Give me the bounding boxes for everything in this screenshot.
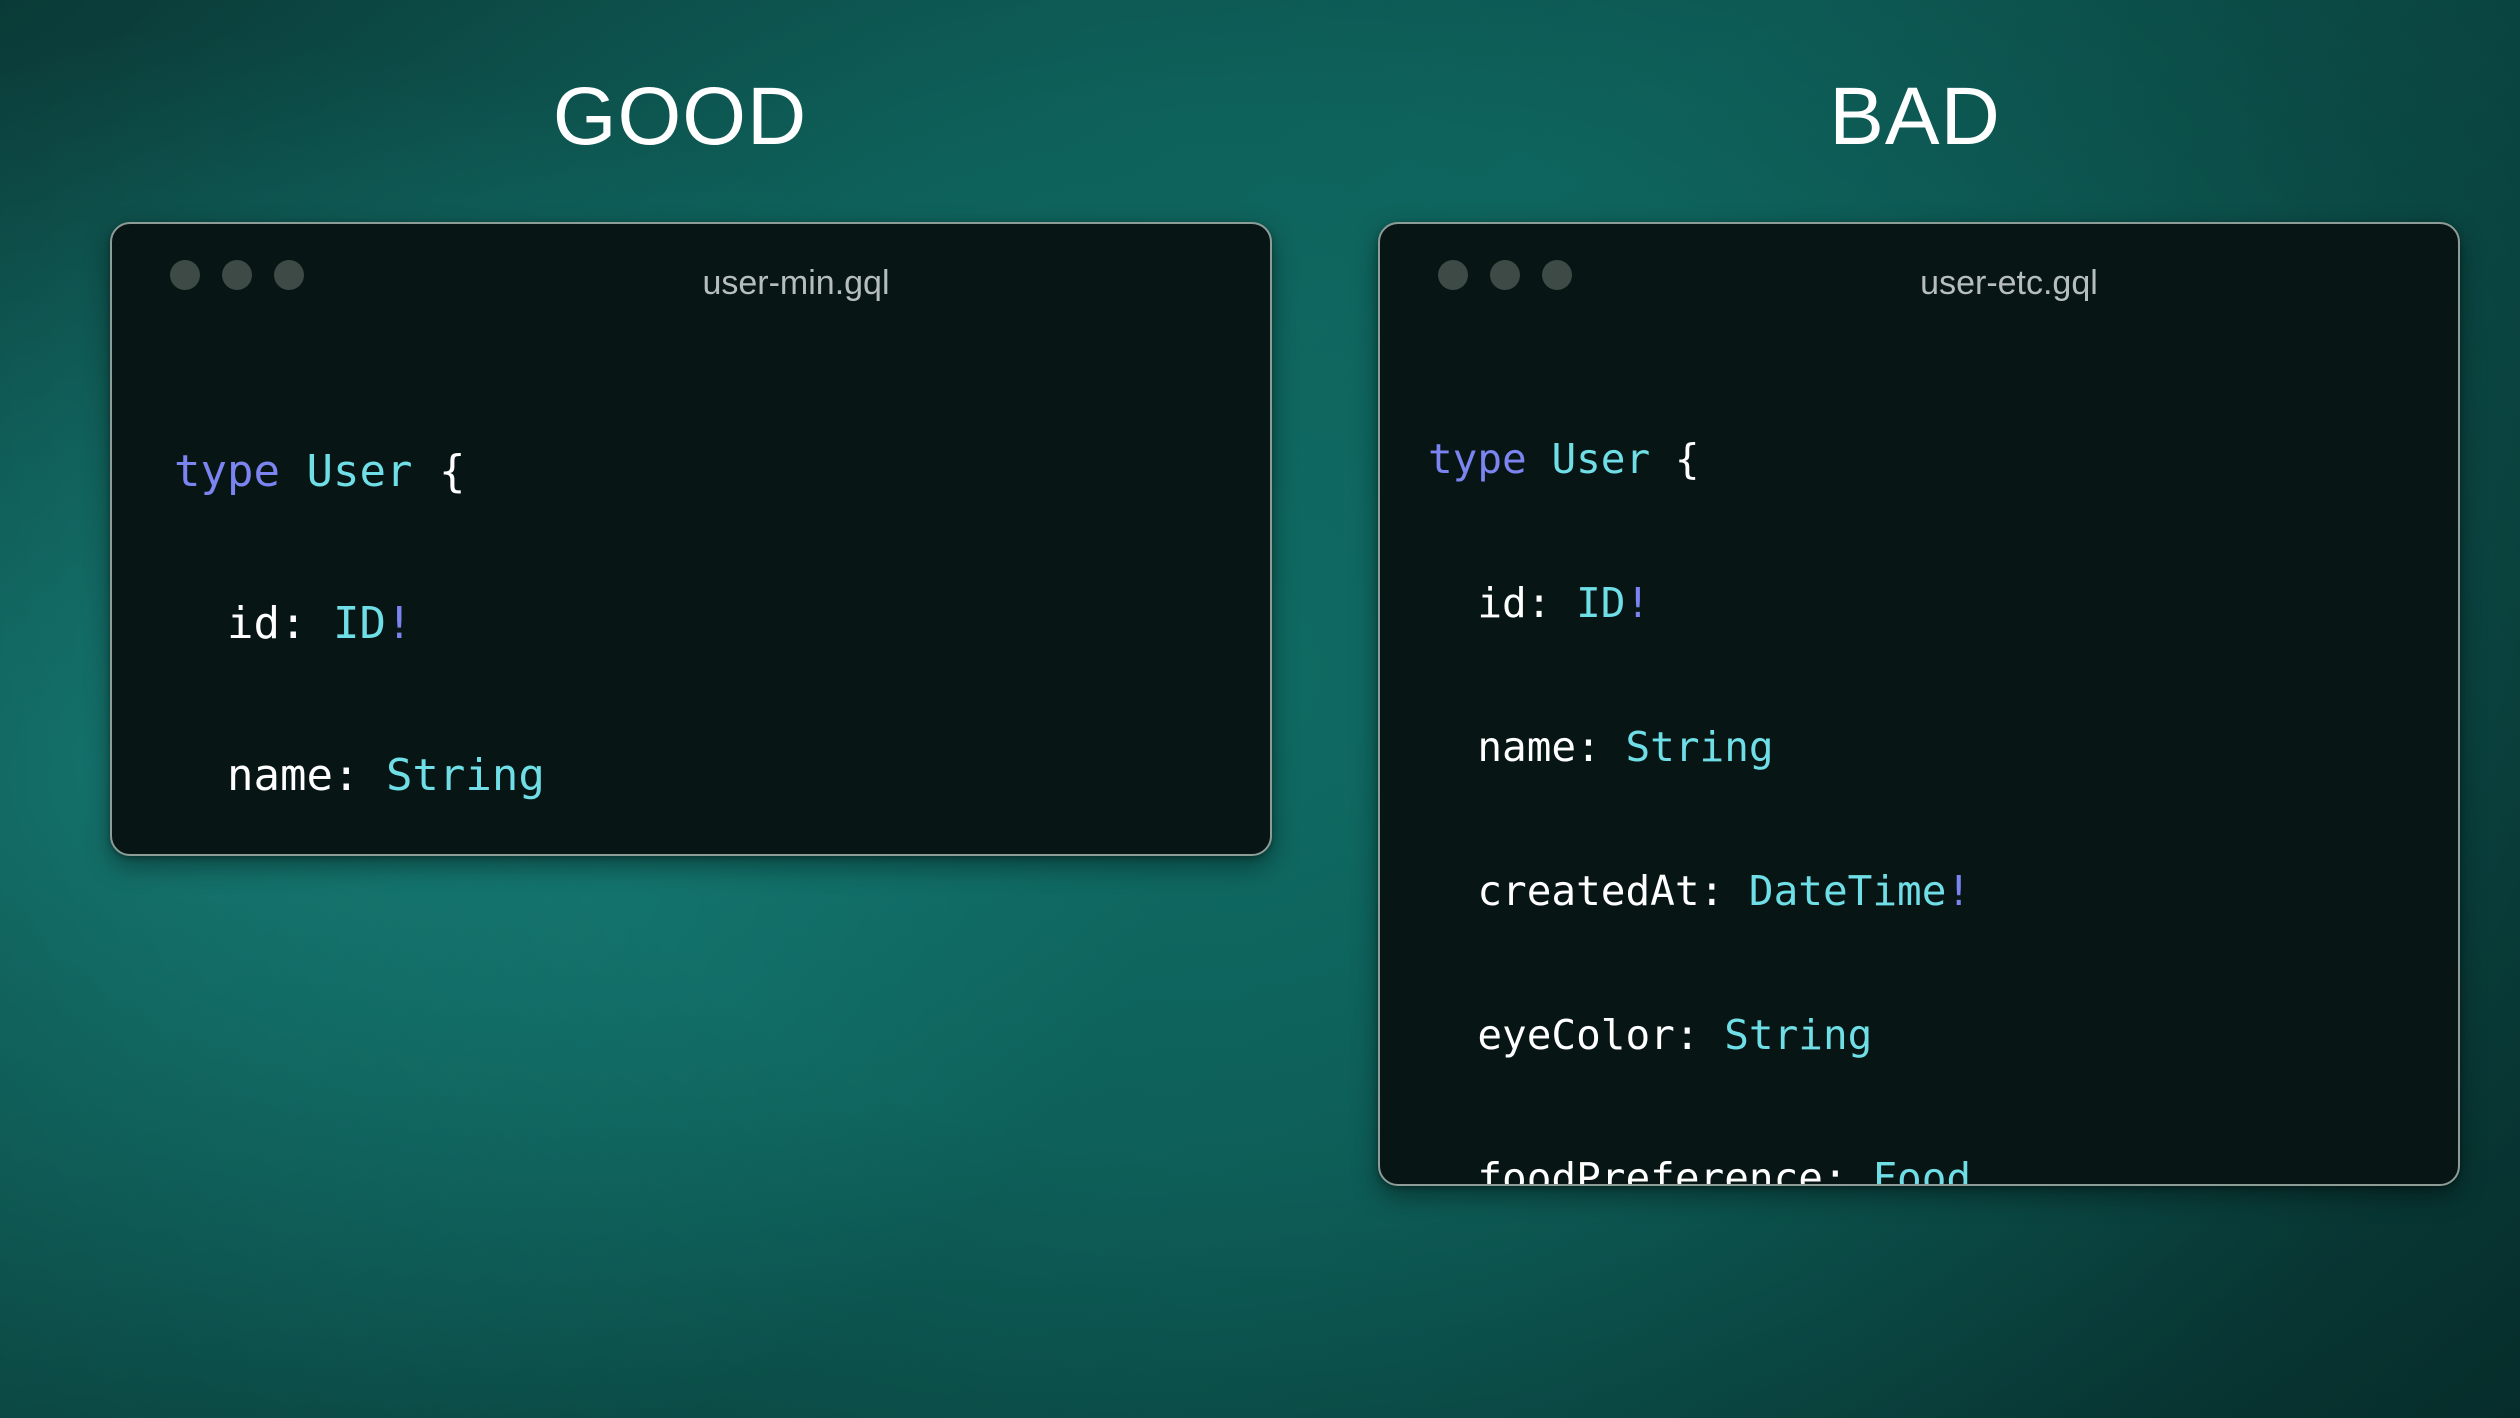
colon: : xyxy=(1700,867,1749,915)
code-line: foodPreference: Food xyxy=(1428,1155,2458,1186)
colon: : xyxy=(1576,723,1625,771)
indent xyxy=(1428,867,1477,915)
colon: : xyxy=(280,598,333,649)
brace-open: { xyxy=(1675,435,1700,483)
type-string: String xyxy=(386,750,545,801)
space xyxy=(1527,435,1552,483)
code-line: name: String xyxy=(174,751,1270,802)
colon: : xyxy=(1527,579,1576,627)
code-line: eyeColor: String xyxy=(1428,1012,2458,1060)
type-id: ID xyxy=(333,598,386,649)
code-line: id: ID! xyxy=(1428,580,2458,628)
code-line: createdAt: DateTime! xyxy=(1428,868,2458,916)
indent xyxy=(1428,723,1477,771)
indent xyxy=(1428,1011,1477,1059)
colon: : xyxy=(1823,1154,1872,1186)
non-null-bang: ! xyxy=(1946,867,1971,915)
keyword-type: type xyxy=(174,446,280,497)
field-id: id xyxy=(227,598,280,649)
colon: : xyxy=(1675,1011,1724,1059)
brace-open: { xyxy=(439,446,466,497)
code-line: id: ID! xyxy=(174,599,1270,650)
field-eyecolor: eyeColor xyxy=(1477,1011,1674,1059)
keyword-type: type xyxy=(1428,435,1527,483)
type-datetime: DateTime xyxy=(1749,867,1946,915)
bad-card-filename: user-etc.gql xyxy=(1380,264,2458,303)
field-name: name xyxy=(1477,723,1576,771)
code-line: name: String xyxy=(1428,724,2458,772)
bad-code-card: user-etc.gql type User { id: ID! name: S… xyxy=(1378,222,2460,1186)
bad-heading: BAD xyxy=(1565,76,2265,158)
space xyxy=(1650,435,1675,483)
bad-code-block: type User { id: ID! name: String created… xyxy=(1380,334,2458,1186)
indent xyxy=(1428,579,1477,627)
non-null-bang: ! xyxy=(386,598,413,649)
colon: : xyxy=(333,750,386,801)
non-null-bang: ! xyxy=(1626,579,1651,627)
type-string: String xyxy=(1626,723,1774,771)
space xyxy=(280,446,307,497)
bad-card-titlebar: user-etc.gql xyxy=(1380,224,2458,334)
type-name-user: User xyxy=(1551,435,1650,483)
field-name: name xyxy=(227,750,333,801)
good-card-filename: user-min.gql xyxy=(112,264,1270,303)
good-code-card: user-min.gql type User { id: ID! name: S… xyxy=(110,222,1272,856)
code-line: type User { xyxy=(174,447,1270,498)
good-heading: GOOD xyxy=(330,76,1030,158)
field-id: id xyxy=(1477,579,1526,627)
good-card-titlebar: user-min.gql xyxy=(112,224,1270,334)
space xyxy=(412,446,439,497)
type-food: Food xyxy=(1872,1154,1971,1186)
indent xyxy=(174,598,227,649)
slide-canvas: GOOD BAD user-min.gql type User { id: ID… xyxy=(0,0,2520,1418)
field-createdat: createdAt xyxy=(1477,867,1699,915)
field-foodpreference: foodPreference xyxy=(1477,1154,1823,1186)
good-code-block: type User { id: ID! name: String created… xyxy=(112,334,1270,856)
indent xyxy=(174,750,227,801)
type-id: ID xyxy=(1576,579,1625,627)
indent xyxy=(1428,1154,1477,1186)
type-string: String xyxy=(1724,1011,1872,1059)
type-name-user: User xyxy=(306,446,412,497)
code-line: type User { xyxy=(1428,436,2458,484)
